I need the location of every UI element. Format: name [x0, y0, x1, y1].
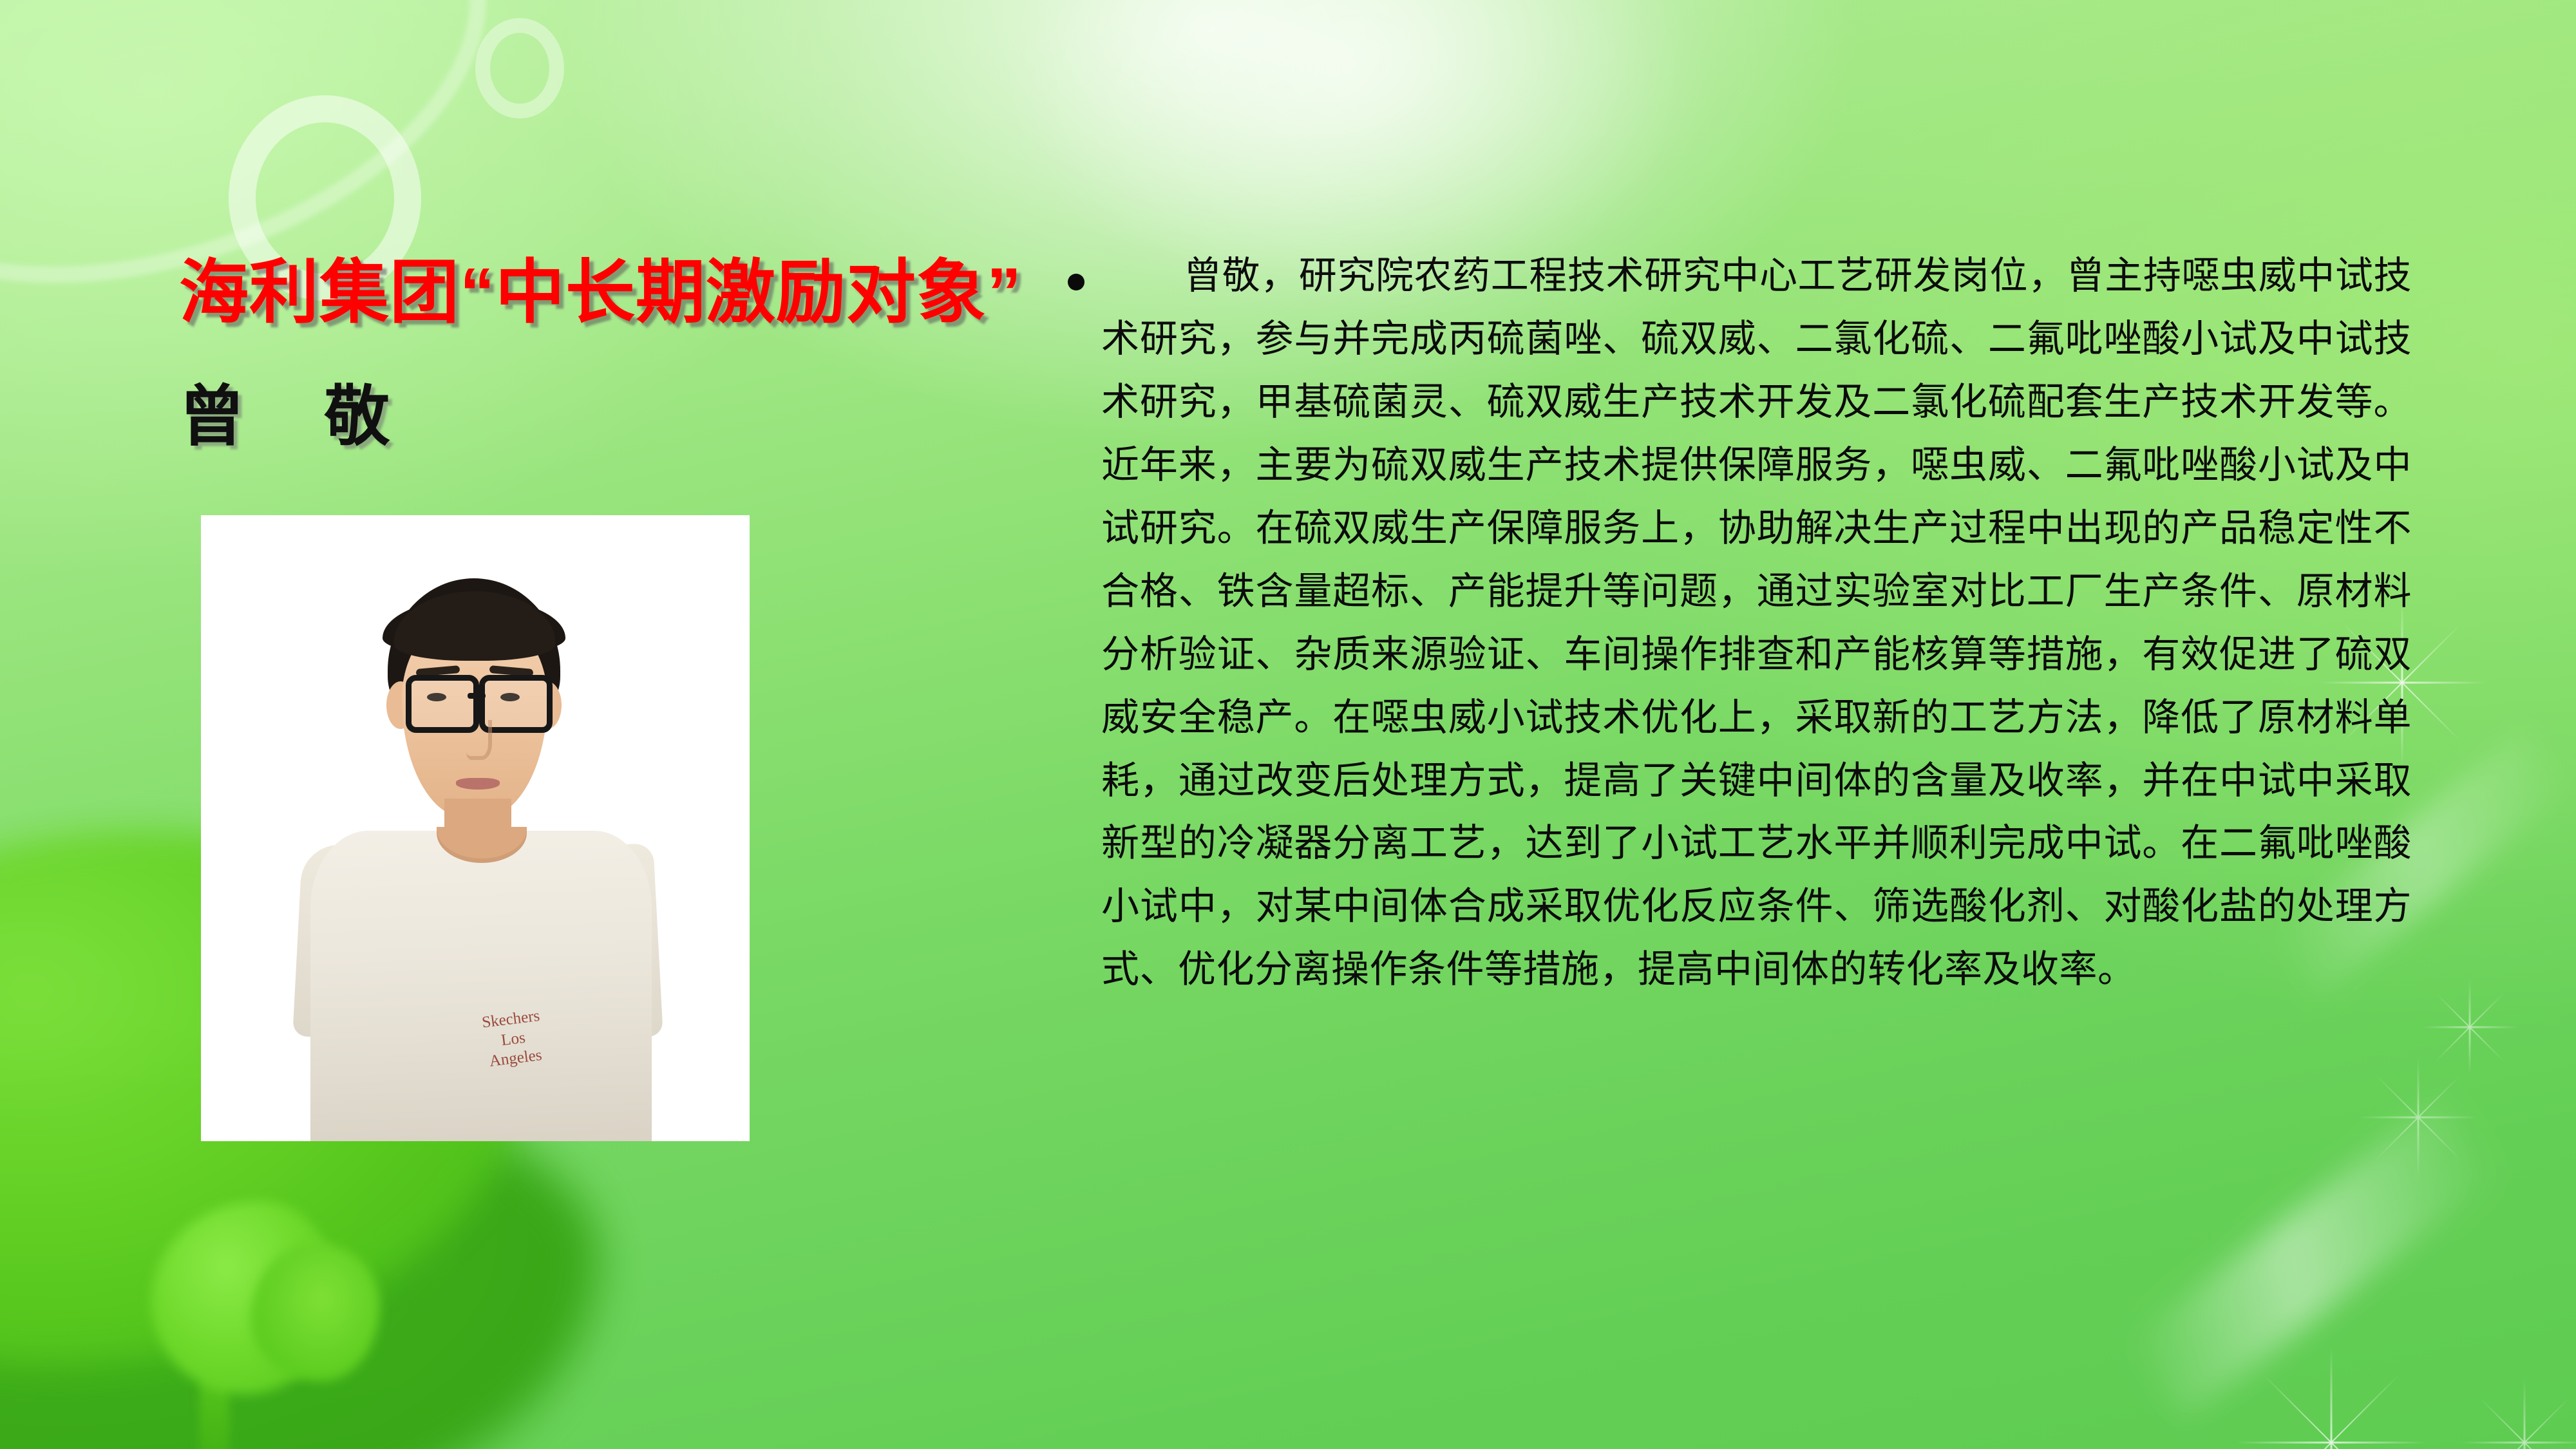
bullet-point-icon: [1068, 274, 1084, 290]
body-paragraph: 曾敬，研究院农药工程技术研究中心工艺研发岗位，曾主持噁虫威中试技术研究，参与并完…: [1101, 245, 2412, 1001]
portrait-photo: Skechers Los Angeles: [201, 515, 750, 1141]
glasses-bridge-icon: [468, 693, 486, 699]
presentation-slide: 海利集团“中长期激励对象” 曾 敬 Skechers: [0, 0, 2576, 1449]
person-name: 曾 敬: [179, 364, 759, 459]
sparkle-star-icon: [2460, 1378, 2576, 1449]
leaf-stem: [200, 1372, 229, 1449]
leaf-bud: [151, 1201, 338, 1394]
sparkle-star-icon: [2421, 979, 2518, 1075]
decorative-ring-small-icon: [475, 18, 564, 118]
leaf-bud-secondary: [251, 1243, 380, 1381]
mouth: [456, 778, 500, 790]
sparkle-star-icon: [2357, 1056, 2479, 1179]
slide-title: 海利集团“中长期激励对象”: [179, 254, 1016, 331]
portrait-illustration: Skechers Los Angeles: [201, 515, 750, 1141]
tshirt-logo: Skechers Los Angeles: [468, 1005, 558, 1074]
nose: [466, 720, 492, 760]
sparkle-star-icon: [2235, 1346, 2428, 1449]
light-streak: [2125, 1098, 2499, 1420]
tshirt: [310, 831, 652, 1141]
